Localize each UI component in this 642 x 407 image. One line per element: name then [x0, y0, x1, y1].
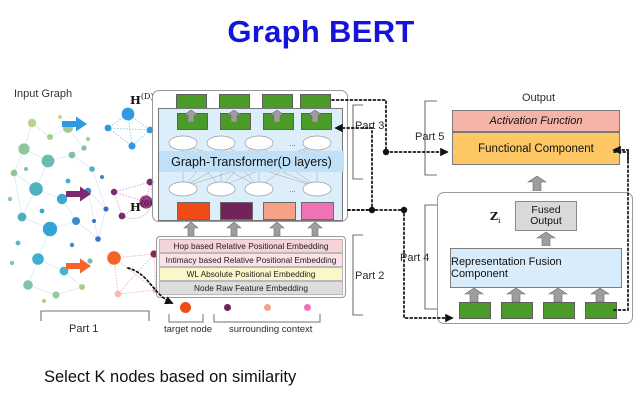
- target-node-label: target node: [164, 324, 212, 335]
- embedding-row-label: WL Absolute Positional Embedding: [187, 269, 316, 279]
- surrounding-context-bracket: [213, 314, 321, 323]
- part5-output-panel: Activation Function Functional Component: [452, 110, 620, 172]
- arrow-to-subgraph-blue: [62, 116, 88, 132]
- output-label: Output: [522, 92, 555, 104]
- embedding-row-label: Intimacy based Relative Positional Embed…: [166, 255, 337, 265]
- arrow-to-subgraph-orange: [66, 258, 92, 274]
- part3-bracket: [352, 104, 364, 180]
- context-dot-1: [224, 304, 231, 311]
- embedding-to-input-arrows: [176, 222, 336, 236]
- representation-fusion-label: Representation Fusion Component: [451, 256, 621, 280]
- target-node-bracket: [168, 314, 204, 323]
- part1-bracket: [40, 310, 150, 322]
- input-graph-label: Input Graph: [14, 88, 72, 100]
- surrounding-context-label: surrounding context: [229, 324, 312, 335]
- diagram-canvas: Graph BERT Input Graph: [0, 0, 642, 407]
- transformer-input-box: [220, 113, 251, 130]
- functional-component-box: Functional Component: [452, 132, 620, 165]
- activation-function-box: Activation Function: [452, 110, 620, 132]
- svg-text:...: ...: [289, 185, 296, 194]
- fusion-to-fused-arrow: [536, 232, 556, 246]
- part1-label: Part 1: [69, 323, 98, 335]
- graph-transformer-label: Graph-Transformer(D layers): [171, 155, 332, 169]
- transformer-input-box: [177, 113, 208, 130]
- embedding-stack: Hop based Relative Positional Embedding …: [156, 236, 346, 298]
- bottom-boxes-arrows: [460, 288, 616, 302]
- context-embedding-box-2: [263, 202, 296, 220]
- part4-fusion-panel: Zi Fused Output Representation Fusion Co…: [437, 192, 633, 324]
- transformer-input-box: [301, 113, 332, 130]
- fusion-input-box: [585, 302, 617, 319]
- representation-fusion-component-box: Representation Fusion Component: [450, 248, 622, 288]
- transformer-input-box: [263, 113, 294, 130]
- graph-transformer-label-band: Graph-Transformer(D layers): [159, 151, 344, 172]
- svg-text:...: ...: [289, 139, 296, 148]
- target-node-dot: [180, 302, 191, 313]
- context-embedding-box-3: [301, 202, 334, 220]
- context-dot-2: [264, 304, 271, 311]
- page-title: Graph BERT: [0, 14, 642, 50]
- fusion-input-box: [543, 302, 575, 319]
- part5-label: Part 5: [415, 131, 444, 143]
- h-input-label: H(0): [130, 199, 152, 214]
- h-output-label: H(D): [130, 92, 154, 107]
- part2-label: Part 2: [355, 270, 384, 282]
- context-embedding-box-1: [220, 202, 253, 220]
- z-variable-label: Zi: [490, 210, 500, 225]
- embedding-row-hop: Hop based Relative Positional Embedding: [159, 239, 343, 253]
- arrow-to-subgraph-purple: [66, 186, 92, 202]
- activation-function-label: Activation Function: [490, 115, 583, 127]
- fusion-input-box: [459, 302, 491, 319]
- part4-label: Part 4: [400, 252, 429, 264]
- target-node-embedding-box: [177, 202, 210, 220]
- functional-component-label: Functional Component: [478, 143, 594, 155]
- context-dot-3: [304, 304, 311, 311]
- bottom-caption: Select K nodes based on similarity: [44, 368, 296, 387]
- fused-output-line2: Output: [530, 216, 562, 228]
- part3-label: Part 3: [355, 120, 384, 132]
- fused-output-box: Fused Output: [515, 201, 577, 231]
- fusion-input-box: [501, 302, 533, 319]
- graph-transformer-panel: ... ... Graph-Transformer(D layers): [158, 108, 343, 221]
- embedding-row-wl: WL Absolute Positional Embedding: [159, 267, 343, 281]
- embedding-row-raw: Node Raw Feature Embedding: [159, 281, 343, 295]
- embedding-row-label: Hop based Relative Positional Embedding: [174, 241, 329, 251]
- embedding-row-label: Node Raw Feature Embedding: [194, 283, 308, 293]
- fused-to-functional-arrow: [527, 176, 547, 191]
- embedding-row-intimacy: Intimacy based Relative Positional Embed…: [159, 253, 343, 267]
- subgraph-blue: [92, 104, 160, 156]
